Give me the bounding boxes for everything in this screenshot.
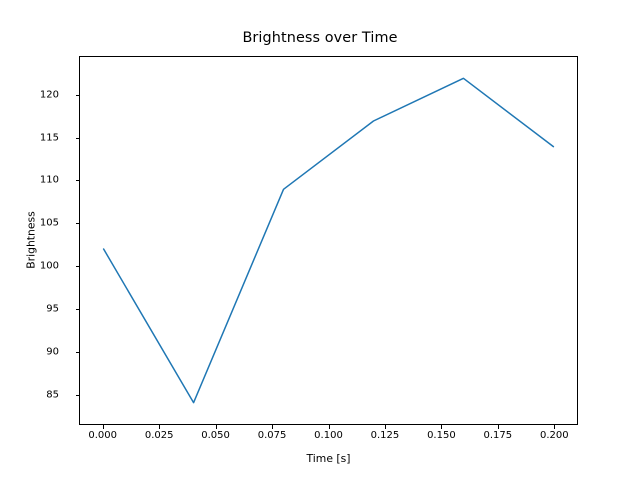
y-tick-mark xyxy=(76,223,80,224)
x-tick-mark xyxy=(329,425,330,429)
y-tick-mark xyxy=(76,395,80,396)
y-tick-label: 120 xyxy=(19,89,59,100)
y-tick-mark xyxy=(76,95,80,96)
x-tick-mark xyxy=(103,425,104,429)
chart-title: Brightness over Time xyxy=(0,30,640,46)
x-tick-label: 0.175 xyxy=(468,430,528,441)
y-tick-mark xyxy=(76,309,80,310)
x-tick-mark xyxy=(216,425,217,429)
y-tick-label: 85 xyxy=(19,389,59,400)
x-axis-label: Time [s] xyxy=(79,452,578,465)
x-tick-label: 0.000 xyxy=(73,430,133,441)
x-tick-mark xyxy=(159,425,160,429)
x-tick-label: 0.200 xyxy=(524,430,584,441)
y-tick-mark xyxy=(76,180,80,181)
x-tick-label: 0.075 xyxy=(242,430,302,441)
y-tick-mark xyxy=(76,138,80,139)
y-tick-label: 110 xyxy=(19,175,59,186)
y-tick-label: 95 xyxy=(19,304,59,315)
brightness-line xyxy=(104,78,554,402)
y-axis-label-text: Brightness xyxy=(25,211,38,269)
figure-canvas: Brightness over Time 0.0000.0250.0500.07… xyxy=(0,0,640,480)
x-tick-mark xyxy=(554,425,555,429)
x-tick-mark xyxy=(441,425,442,429)
y-tick-mark xyxy=(76,352,80,353)
x-tick-mark xyxy=(498,425,499,429)
x-tick-label: 0.025 xyxy=(129,430,189,441)
y-tick-label: 115 xyxy=(19,132,59,143)
y-tick-label: 90 xyxy=(19,347,59,358)
y-tick-mark xyxy=(76,266,80,267)
x-tick-label: 0.050 xyxy=(186,430,246,441)
x-tick-mark xyxy=(385,425,386,429)
x-tick-label: 0.150 xyxy=(411,430,471,441)
line-series-svg xyxy=(80,57,577,424)
x-tick-mark xyxy=(272,425,273,429)
x-tick-label: 0.125 xyxy=(355,430,415,441)
plot-area xyxy=(79,56,578,425)
x-tick-label: 0.100 xyxy=(299,430,359,441)
